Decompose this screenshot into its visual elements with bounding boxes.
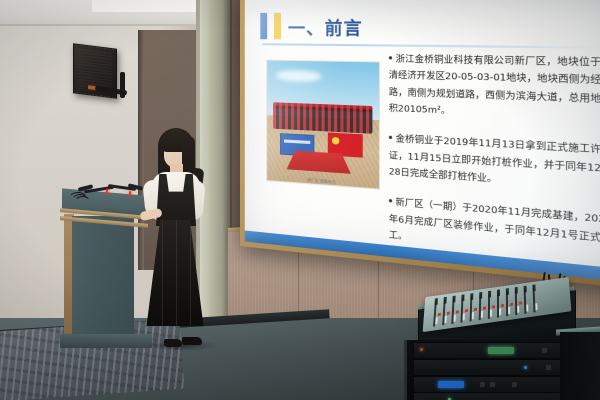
presentation-slide: 一、前言 新厂区 奠基仪式 — [245, 0, 600, 283]
rack-unit — [413, 376, 575, 393]
rack-button[interactable] — [490, 382, 495, 387]
presenter-shoe-right — [182, 337, 202, 345]
slide-bullet-1: 浙江金桥铜业科技有限公司新厂区，地块位于乐清经济开发区20-05-03-01地块… — [389, 51, 600, 126]
photo-banner-text — [284, 140, 310, 145]
skirt-fold — [162, 220, 163, 326]
title-bar-blue-icon — [260, 13, 267, 39]
slide-title: 一、前言 — [288, 13, 363, 40]
bullet-dot-icon — [389, 199, 392, 202]
slide-title-group: 一、前言 — [260, 12, 362, 40]
slide-bullet-2: 金桥铜业于2019年11月13日拿到正式施工许可证，11月15日立即开始打桩作业… — [389, 131, 600, 196]
lectern — [66, 190, 144, 340]
lectern-body — [72, 216, 134, 334]
bullet-dot-icon — [389, 136, 392, 139]
rack-status-led — [524, 366, 527, 369]
rack-unit — [413, 359, 575, 376]
projection-screen-surface: 一、前言 新厂区 奠基仪式 — [245, 0, 600, 283]
rack-button[interactable] — [480, 382, 485, 387]
presenter-skirt — [144, 220, 206, 326]
mic-cable — [74, 196, 91, 210]
rack-display — [488, 347, 514, 354]
rack-case-side — [560, 332, 600, 400]
slide-title-rule — [262, 43, 600, 49]
presenter-shoe-left — [164, 339, 182, 347]
slide-body-text: 浙江金桥铜业科技有限公司新厂区，地块位于乐清经济开发区20-05-03-01地块… — [389, 51, 600, 282]
title-bar-yellow-icon — [274, 13, 281, 40]
photo-flag-star-icon — [332, 137, 339, 144]
rack-button[interactable] — [546, 365, 551, 370]
rack-button[interactable] — [542, 348, 547, 353]
projection-screen: 一、前言 新厂区 奠基仪式 — [240, 0, 600, 290]
speaker-arm — [120, 72, 125, 98]
skirt-fold — [190, 220, 191, 326]
rack-power-led — [420, 348, 423, 351]
microphone-led-left — [106, 189, 108, 194]
slide-photo: 新厂区 奠基仪式 — [266, 59, 380, 189]
rack-unit — [413, 392, 575, 400]
skirt-fold — [176, 220, 177, 326]
rack-button[interactable] — [512, 382, 517, 387]
conference-room-photo: 一、前言 新厂区 奠基仪式 — [0, 0, 600, 400]
microphone-led-right — [129, 191, 131, 196]
rack-lcd-display — [438, 381, 464, 388]
female-presenter — [138, 128, 210, 343]
bullet-dot-icon — [389, 56, 392, 59]
rack-unit — [413, 342, 575, 359]
